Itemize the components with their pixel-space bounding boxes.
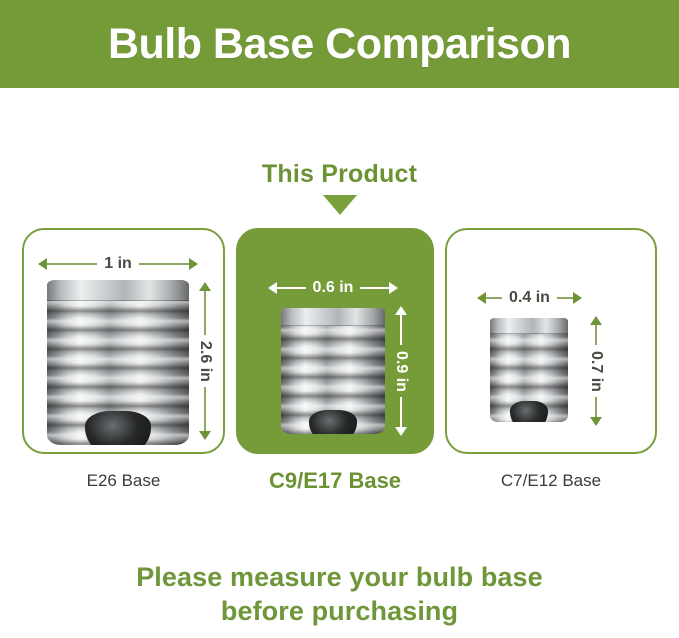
footer-line-2: before purchasing [0,594,679,628]
width-dimension-label: 0.6 in [306,280,361,296]
arrow-left-icon [477,292,486,304]
bulb-body [281,308,385,434]
comparison-card-e26[interactable]: 1 in 2.6 in [22,228,225,454]
triangle-down-icon [323,195,357,215]
footer-line-1: Please measure your bulb base [0,560,679,594]
this-product-label: This Product [0,160,679,189]
bulb-collar [490,318,568,334]
base-label-c9e17: C9/E17 Base [236,468,434,494]
dimension-line [486,297,502,299]
arrow-right-icon [389,282,398,294]
height-dimension-label: 2.6 in [197,335,213,388]
dimension-line [557,297,573,299]
this-product-callout: This Product [0,160,679,215]
comparison-cards: 1 in 2.6 in 0.6 in [0,228,679,454]
footer-note: Please measure your bulb base before pur… [0,560,679,628]
width-dimension-c7e12: 0.4 in [477,288,582,308]
height-dimension-c9e17: 0.9 in [390,306,412,436]
arrow-down-icon [590,417,602,426]
dimension-line [139,263,189,265]
dimension-line [595,325,597,345]
width-dimension-label: 1 in [97,256,139,272]
screw-base-bulb-icon [490,318,568,422]
height-dimension-label: 0.7 in [588,345,604,398]
bulb-collar [47,280,189,301]
bulb-contact-tip [510,401,548,422]
height-dimension-e26: 2.6 in [194,282,216,440]
bulb-contact-tip [85,411,151,445]
dimension-line [204,291,206,335]
width-dimension-c9e17: 0.6 in [268,278,398,298]
arrow-up-icon [199,282,211,291]
bulb-collar [281,308,385,326]
dimension-line [595,397,597,417]
bulb-body [47,280,189,445]
comparison-card-c7e12[interactable]: 0.4 in 0.7 in [445,228,657,454]
width-dimension-label: 0.4 in [502,290,557,306]
arrow-right-icon [189,258,198,270]
header-banner: Bulb Base Comparison [0,0,679,88]
arrow-up-icon [395,306,407,315]
arrow-left-icon [268,282,277,294]
arrow-right-icon [573,292,582,304]
bulb-body [490,318,568,422]
screw-base-bulb-icon [47,280,189,445]
dimension-line [400,397,402,427]
comparison-card-c9e17[interactable]: 0.6 in 0.9 in [236,228,434,454]
dimension-line [400,315,402,345]
dimension-line [277,287,306,289]
height-dimension-c7e12: 0.7 in [585,316,607,426]
arrow-down-icon [199,431,211,440]
base-label-e26: E26 Base [22,468,225,494]
arrow-left-icon [38,258,47,270]
page-title: Bulb Base Comparison [108,23,571,66]
base-label-c7e12: C7/E12 Base [445,468,657,494]
arrow-down-icon [395,427,407,436]
screw-base-bulb-icon [281,308,385,434]
dimension-line [47,263,97,265]
dimension-line [360,287,389,289]
width-dimension-e26: 1 in [38,254,198,274]
height-dimension-label: 0.9 in [393,345,409,398]
arrow-up-icon [590,316,602,325]
bulb-contact-tip [309,410,357,434]
dimension-line [204,387,206,431]
base-labels-row: E26 Base C9/E17 Base C7/E12 Base [0,468,679,502]
